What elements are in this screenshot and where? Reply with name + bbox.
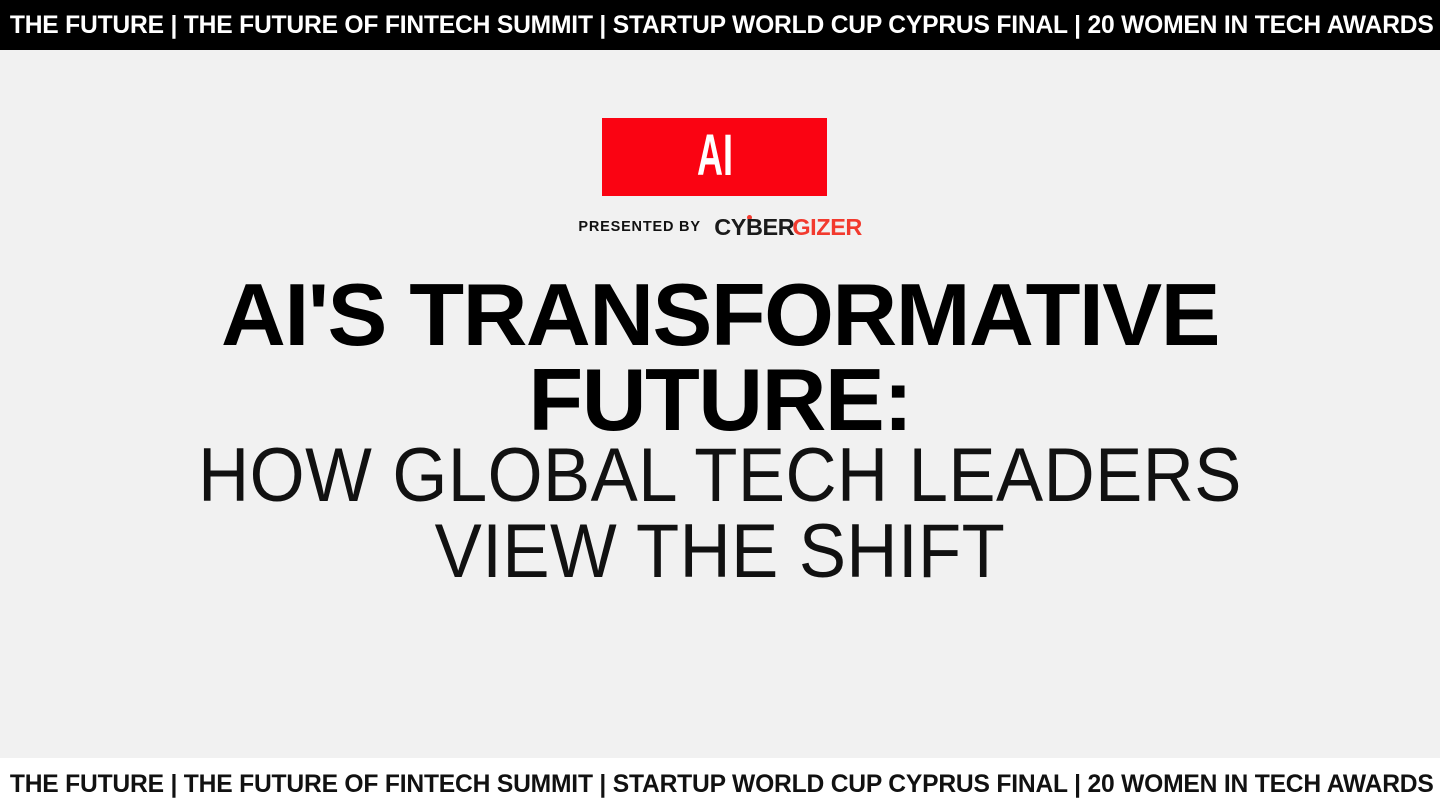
headline-line-2: FUTURE: (0, 357, 1440, 442)
presented-by-label: PRESENTED BY (578, 220, 700, 235)
headline-line-1: AI'S TRANSFORMATIVE (0, 272, 1440, 357)
subheadline-line-2: VIEW THE SHIFT (50, 514, 1389, 590)
page-title: AI'S TRANSFORMATIVE FUTURE: (0, 272, 1440, 443)
presented-by-row: PRESENTED BY CYBER GIZER (0, 214, 1440, 240)
slide-stage: AI PRESENTED BY CYBER GIZER AI'S TRANSFO… (0, 50, 1440, 758)
brand-name-secondary: GIZER (793, 216, 863, 239)
page-subtitle: HOW GLOBAL TECH LEADERS VIEW THE SHIFT (0, 438, 1440, 590)
bottom-ticker-bar: THE FUTURE | THE FUTURE OF FINTECH SUMMI… (0, 758, 1440, 810)
top-ticker-bar: THE FUTURE | THE FUTURE OF FINTECH SUMMI… (0, 0, 1440, 50)
ai-logo-box: AI (602, 118, 827, 196)
ai-logo-text: AI (697, 127, 733, 187)
top-ticker-text: THE FUTURE | THE FUTURE OF FINTECH SUMMI… (0, 13, 1434, 38)
subheadline-line-1: HOW GLOBAL TECH LEADERS (50, 438, 1389, 514)
ai-logo: AI (602, 118, 827, 196)
cybergizer-logo: CYBER GIZER (715, 216, 862, 239)
brand-name-primary: CYBER (714, 216, 794, 239)
bottom-ticker-text: THE FUTURE | THE FUTURE OF FINTECH SUMMI… (0, 772, 1434, 797)
